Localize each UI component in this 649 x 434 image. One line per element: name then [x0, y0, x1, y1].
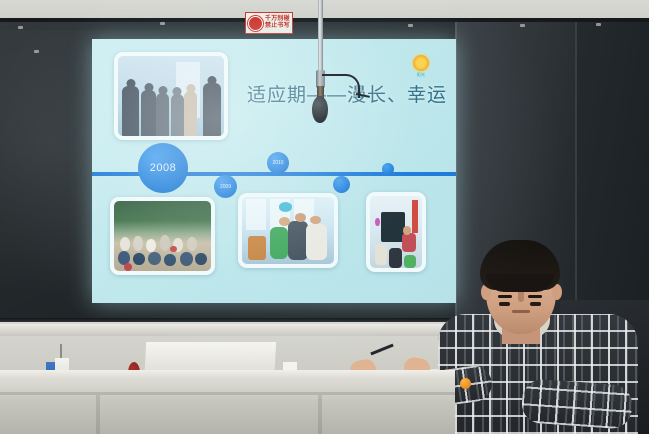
orange-fruit	[460, 378, 471, 389]
timeline-node-2009: 2009	[214, 175, 237, 198]
screw-icon	[34, 50, 39, 53]
warning-sign-line1: 千万别碰	[265, 16, 290, 23]
classroom-scene: 千万别碰 禁止书写 适应期——漫长、幸运 阳光	[0, 0, 649, 434]
presenter-right-arm	[521, 378, 634, 430]
classroom-students-photo	[238, 193, 338, 268]
sun-logo-icon	[413, 55, 429, 71]
timeline-node-dot	[382, 163, 394, 175]
projected-slide: 适应期——漫长、幸运 阳光 2008 2009 2010	[92, 39, 456, 303]
blackboard-frame-top	[0, 18, 649, 22]
outdoor-students-photo	[110, 197, 215, 275]
no-entry-icon	[248, 16, 263, 31]
timeline-node-2008: 2008	[138, 143, 188, 193]
screw-icon	[18, 26, 23, 29]
desk-leg	[96, 395, 100, 434]
timeline-node-label: 2010	[272, 160, 283, 166]
desk-leg	[318, 395, 322, 434]
timeline-node-dot	[333, 176, 350, 193]
microphone-cable	[322, 74, 360, 98]
timeline-node-2010: 2010	[267, 152, 289, 174]
microphone-pole	[318, 0, 323, 78]
seated-presenter	[438, 232, 649, 434]
presenter-hair	[480, 240, 560, 290]
hallway-group-photo	[114, 52, 228, 140]
desk-edge	[0, 392, 455, 395]
screw-icon	[408, 24, 413, 27]
indoor-activity-photo	[366, 192, 426, 272]
slide-logo: 阳光	[408, 55, 434, 78]
warning-sign-line2: 禁止书写	[265, 23, 290, 30]
microphone-icon	[312, 96, 328, 123]
screw-icon	[160, 22, 165, 25]
screw-icon	[596, 23, 601, 26]
timeline-node-label: 2008	[150, 162, 176, 174]
teacher-desk	[0, 380, 455, 434]
slide-logo-caption: 阳光	[408, 72, 434, 78]
presenter-mouth	[512, 310, 530, 313]
screw-icon	[520, 24, 525, 27]
timeline-node-label: 2009	[220, 184, 231, 190]
warning-sign: 千万别碰 禁止书写	[245, 12, 293, 34]
